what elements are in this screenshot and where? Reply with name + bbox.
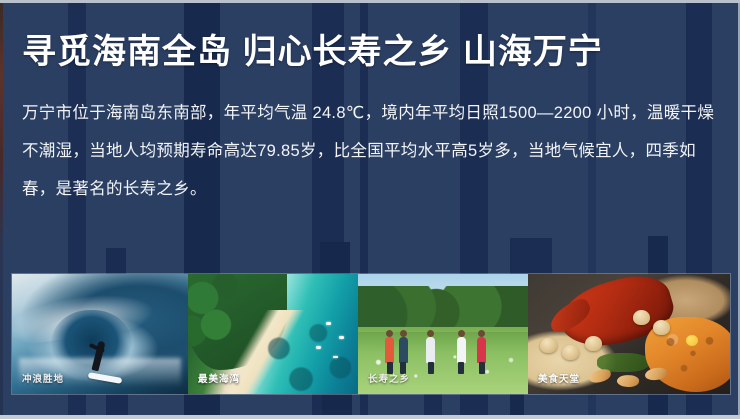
photo-card-bay[interactable]: 最美海湾 [188, 274, 358, 394]
photo-caption: 冲浪胜地 [22, 371, 64, 385]
slide-left-border [0, 0, 3, 419]
photo-card-surfing[interactable]: 冲浪胜地 [12, 274, 188, 394]
photo-card-cuisine[interactable]: 美食天堂 [528, 274, 730, 394]
bg-accent-block [510, 238, 552, 278]
photo-strip: 冲浪胜地 最美海湾 长寿之乡 [12, 274, 730, 394]
slide-body-text: 万宁市位于海南岛东南部，年平均气温 24.8℃，境内年平均日照1500—2200… [22, 94, 722, 208]
bg-accent-block [424, 394, 442, 415]
bg-accent-block [648, 236, 668, 278]
bg-accent-block [322, 394, 352, 415]
slide-bottom-border [0, 415, 740, 419]
bg-accent-block [510, 394, 524, 415]
bg-accent-block [320, 242, 350, 278]
slide-title: 寻觅海南全岛 归心长寿之乡 山海万宁 [22, 24, 603, 73]
presentation-slide: 寻觅海南全岛 归心长寿之乡 山海万宁 万宁市位于海南岛东南部，年平均气温 24.… [0, 0, 740, 419]
slide-top-border [0, 0, 740, 3]
photo-caption: 最美海湾 [198, 371, 240, 385]
bg-accent-block [106, 394, 128, 415]
photo-card-longevity[interactable]: 长寿之乡 [358, 274, 528, 394]
photo-caption: 长寿之乡 [368, 371, 410, 385]
bg-accent-block [648, 394, 668, 415]
photo-caption: 美食天堂 [538, 371, 580, 385]
